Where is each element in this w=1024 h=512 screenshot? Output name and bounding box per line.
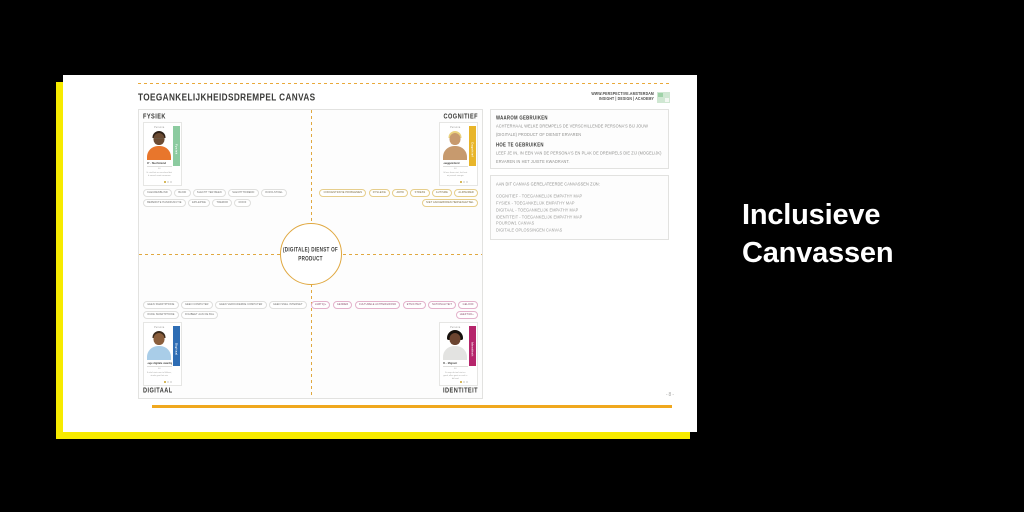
tag-pill[interactable]: AUTISME <box>432 189 452 197</box>
persona-chip-icon <box>173 126 180 132</box>
persona-tab-label: Digitaal <box>174 343 178 356</box>
avatar-body <box>147 346 171 360</box>
persona-kicker: Persona <box>147 126 173 129</box>
quadrant-cognitief[interactable]: COGNITIEF Persona Cognitief <box>310 114 478 210</box>
persona-name: 31 - Migrant <box>443 362 469 367</box>
tag-pill[interactable]: ADHD <box>392 189 408 197</box>
persona-avatar-fysiek <box>147 130 173 160</box>
quadrant-label-identiteit: IDENTITEIT <box>310 387 478 395</box>
slide-accent-rule <box>152 405 672 408</box>
persona-tab-label: Identiteit <box>470 342 474 357</box>
canvas-title: TOEGANKELIJKHEIDSDREMPEL CANVAS <box>138 91 316 102</box>
tag-pill[interactable]: GELOOF <box>458 301 478 309</box>
persona-dots <box>460 381 468 383</box>
tag-pill[interactable]: NATIONALITEIT <box>428 301 456 309</box>
related-list: COGNITIEF - TOEGANKELIJK EMPATHY MAP FYS… <box>496 193 663 234</box>
tag-pill[interactable]: SLECHTHOREND <box>228 189 259 197</box>
brand-tagline: INSIGHT | DESIGN | ACADEMY <box>591 96 654 102</box>
notes-column: WAAROM GEBRUIKEN ACHTERHAAL WELKE DREMPE… <box>490 109 670 399</box>
canvas-sheet: TOEGANKELIJKHEIDSDREMPEL CANVAS WWW.PERS… <box>138 83 670 399</box>
persona-tab-label: Cognitief <box>470 142 474 157</box>
persona-card-fysiek[interactable]: Persona Fysiek 47 - Slechtz <box>143 122 182 186</box>
quadrant-matrix: (DIGITALE) DIENST OF PRODUCT FYSIEK Pers… <box>138 109 483 399</box>
tag-pill[interactable]: GEEN COMPUTER <box>181 301 213 309</box>
tag-pill[interactable]: CULTURELE ACHTERGROND <box>355 301 401 309</box>
tag-pill[interactable]: LGBTIQ+ <box>311 301 331 309</box>
tag-pill[interactable]: CONCENTRATIE PROBLEMEN <box>319 189 366 197</box>
tag-pill[interactable]: BEPERKTE HANDFUNCTIE <box>143 199 186 207</box>
page-marker: -8- <box>666 392 675 398</box>
persona-tab-cognitief: Cognitief <box>469 132 476 166</box>
avatar-body <box>443 346 467 360</box>
persona-kicker: Persona <box>443 326 469 329</box>
persona-name: Laaggeletterd <box>443 162 469 167</box>
related-intro: AAN DIT CANVAS GERELATEERDE CANVASSEN ZI… <box>496 181 663 189</box>
persona-age: 44 <box>147 168 173 171</box>
glasses-icon <box>154 138 165 141</box>
tag-pill[interactable]: DYSLEXIE <box>369 189 391 197</box>
persona-age: 44 <box>147 368 173 371</box>
slide-stage: TOEGANKELIJKHEIDSDREMPEL CANVAS WWW.PERS… <box>0 0 1024 512</box>
tag-pill[interactable]: GEEN SNEL INTERNET <box>269 301 307 309</box>
tag-list-cognitief: CONCENTRATIE PROBLEMEN DYSLEXIE ADHD STR… <box>310 189 478 207</box>
persona-card-identiteit[interactable]: Persona Identiteit 31 - Migrant <box>439 322 478 386</box>
persona-dots <box>164 181 172 183</box>
tag-pill[interactable]: ETNICITEIT <box>403 301 426 309</box>
tag-pill[interactable]: BLIND <box>174 189 190 197</box>
deck-title: Inclusieve Canvassen <box>742 196 1002 273</box>
persona-dots <box>164 381 172 383</box>
note-body-how: LEEF JE IN, IN EEN VAN DE PERSONA'S EN P… <box>496 150 663 166</box>
persona-age: 44 <box>443 168 469 171</box>
tag-pill[interactable]: GEEN VEROUDERDE COMPUTER <box>215 301 267 309</box>
note-box-usage: WAAROM GEBRUIKEN ACHTERHAAL WELKE DREMPE… <box>490 109 669 169</box>
persona-card-cognitief[interactable]: Persona Cognitief Laaggeletterd <box>439 122 478 186</box>
persona-kicker: Persona <box>147 326 173 329</box>
perspective-logo-icon <box>657 92 670 103</box>
quadrant-label-cognitief: COGNITIEF <box>310 113 478 121</box>
quadrant-identiteit[interactable]: LGBTIQ+ GENDER CULTURELE ACHTERGROND ETN… <box>310 298 478 394</box>
avatar-head <box>450 333 461 345</box>
canvas-header: TOEGANKELIJKHEIDSDREMPEL CANVAS WWW.PERS… <box>138 86 670 108</box>
deck-title-line2: Canvassen <box>742 234 1002 272</box>
persona-kicker: Persona <box>443 126 469 129</box>
canvas-top-rule <box>138 83 670 84</box>
canvas-body: (DIGITALE) DIENST OF PRODUCT FYSIEK Pers… <box>138 109 670 399</box>
deck-title-line1: Inclusieve <box>742 196 1002 234</box>
tag-pill[interactable]: LEEFTIJD+ <box>456 311 478 319</box>
persona-name: Lage digitale vaardigheid <box>147 362 173 367</box>
tag-list-identiteit: LGBTIQ+ GENDER CULTURELE ACHTERGROND ETN… <box>310 301 478 319</box>
tag-pill[interactable]: OUDE SMARTPHONE <box>143 311 179 319</box>
persona-chip-icon <box>469 326 476 332</box>
persona-avatar-identiteit <box>443 330 469 360</box>
brand-block: WWW.PERSPECTIVE.AMSTERDAM INSIGHT | DESI… <box>591 92 670 103</box>
tag-list-fysiek: KLEURENBLIND BLIND SLECHT TER BEEN SLECH… <box>143 189 311 207</box>
tag-pill[interactable]: GENDER <box>333 301 353 309</box>
persona-note: Ik vind het zo vervelend dat ik zoveel m… <box>147 172 173 178</box>
quadrant-label-fysiek: FYSIEK <box>143 113 311 121</box>
note-heading-how: HOE TE GEBRUIKEN <box>496 141 663 148</box>
avatar-head <box>450 133 461 145</box>
tag-pill[interactable]: SLECHT TER BEEN <box>193 189 226 197</box>
avatar-body <box>443 146 467 160</box>
persona-note: Ik durf niets aan te klikken, straks gaa… <box>147 372 173 378</box>
tag-pill[interactable]: IN ROLSTOEL <box>261 189 287 197</box>
persona-age: 44 <box>443 368 469 371</box>
persona-chip-icon <box>173 326 180 332</box>
tag-list-digitaal: GEEN SMARTPHONE GEEN COMPUTER GEEN VEROU… <box>143 301 311 319</box>
quadrant-digitaal[interactable]: GEEN SMARTPHONE GEEN COMPUTER GEEN VEROU… <box>143 298 311 394</box>
slide-card: TOEGANKELIJKHEIDSDREMPEL CANVAS WWW.PERS… <box>63 75 697 432</box>
persona-tab-identiteit: Identiteit <box>469 332 476 366</box>
persona-note: Ik lees liever niet, het kost mij zoveel… <box>443 172 469 178</box>
persona-note: Ik snap de taal niet zo goed, alles gaat… <box>443 372 469 380</box>
quadrant-fysiek[interactable]: FYSIEK Persona Fysiek <box>143 114 311 210</box>
tag-pill[interactable]: TREMOR <box>212 199 232 207</box>
tag-pill[interactable]: NIET AANGEBOREN HERSENLETSEL <box>422 199 478 207</box>
note-heading-why: WAAROM GEBRUIKEN <box>496 114 663 121</box>
tag-pill[interactable]: DIGIBEET AAN DE BAL <box>181 311 219 319</box>
note-box-related: AAN DIT CANVAS GERELATEERDE CANVASSEN ZI… <box>490 175 669 240</box>
persona-card-digitaal[interactable]: Persona Digitaal Lage digitale vaardighe… <box>143 322 182 386</box>
note-body-why: ACHTERHAAL WELKE DREMPELS DE VERSCHILLEN… <box>496 123 663 139</box>
tag-pill[interactable]: EPILEPSIE <box>188 199 210 207</box>
avatar-head <box>154 333 165 345</box>
persona-dots <box>460 181 468 183</box>
tag-pill[interactable]: GEEN SMARTPHONE <box>143 301 179 309</box>
persona-name: 47 - Slechtziend <box>147 162 173 167</box>
persona-chip-icon <box>469 126 476 132</box>
tag-pill[interactable]: ALZHEIMER <box>454 189 478 197</box>
tag-pill[interactable]: KLEURENBLIND <box>143 189 172 197</box>
persona-tab-fysiek: Fysiek <box>173 132 180 166</box>
persona-tab-digitaal: Digitaal <box>173 332 180 366</box>
tag-pill[interactable]: DOOF <box>234 199 250 207</box>
persona-avatar-digitaal <box>147 330 173 360</box>
related-item[interactable]: DIGITALE OPLOSSINGEN CANVAS <box>496 227 663 235</box>
center-hub-label: (DIGITALE) DIENST OF PRODUCT <box>281 245 341 263</box>
persona-avatar-cognitief <box>443 130 469 160</box>
persona-tab-label: Fysiek <box>174 144 178 155</box>
quadrant-label-digitaal: DIGITAAL <box>143 387 311 395</box>
center-hub: (DIGITALE) DIENST OF PRODUCT <box>280 223 342 285</box>
avatar-body <box>147 146 171 160</box>
tag-pill[interactable]: STRESS <box>410 189 429 197</box>
